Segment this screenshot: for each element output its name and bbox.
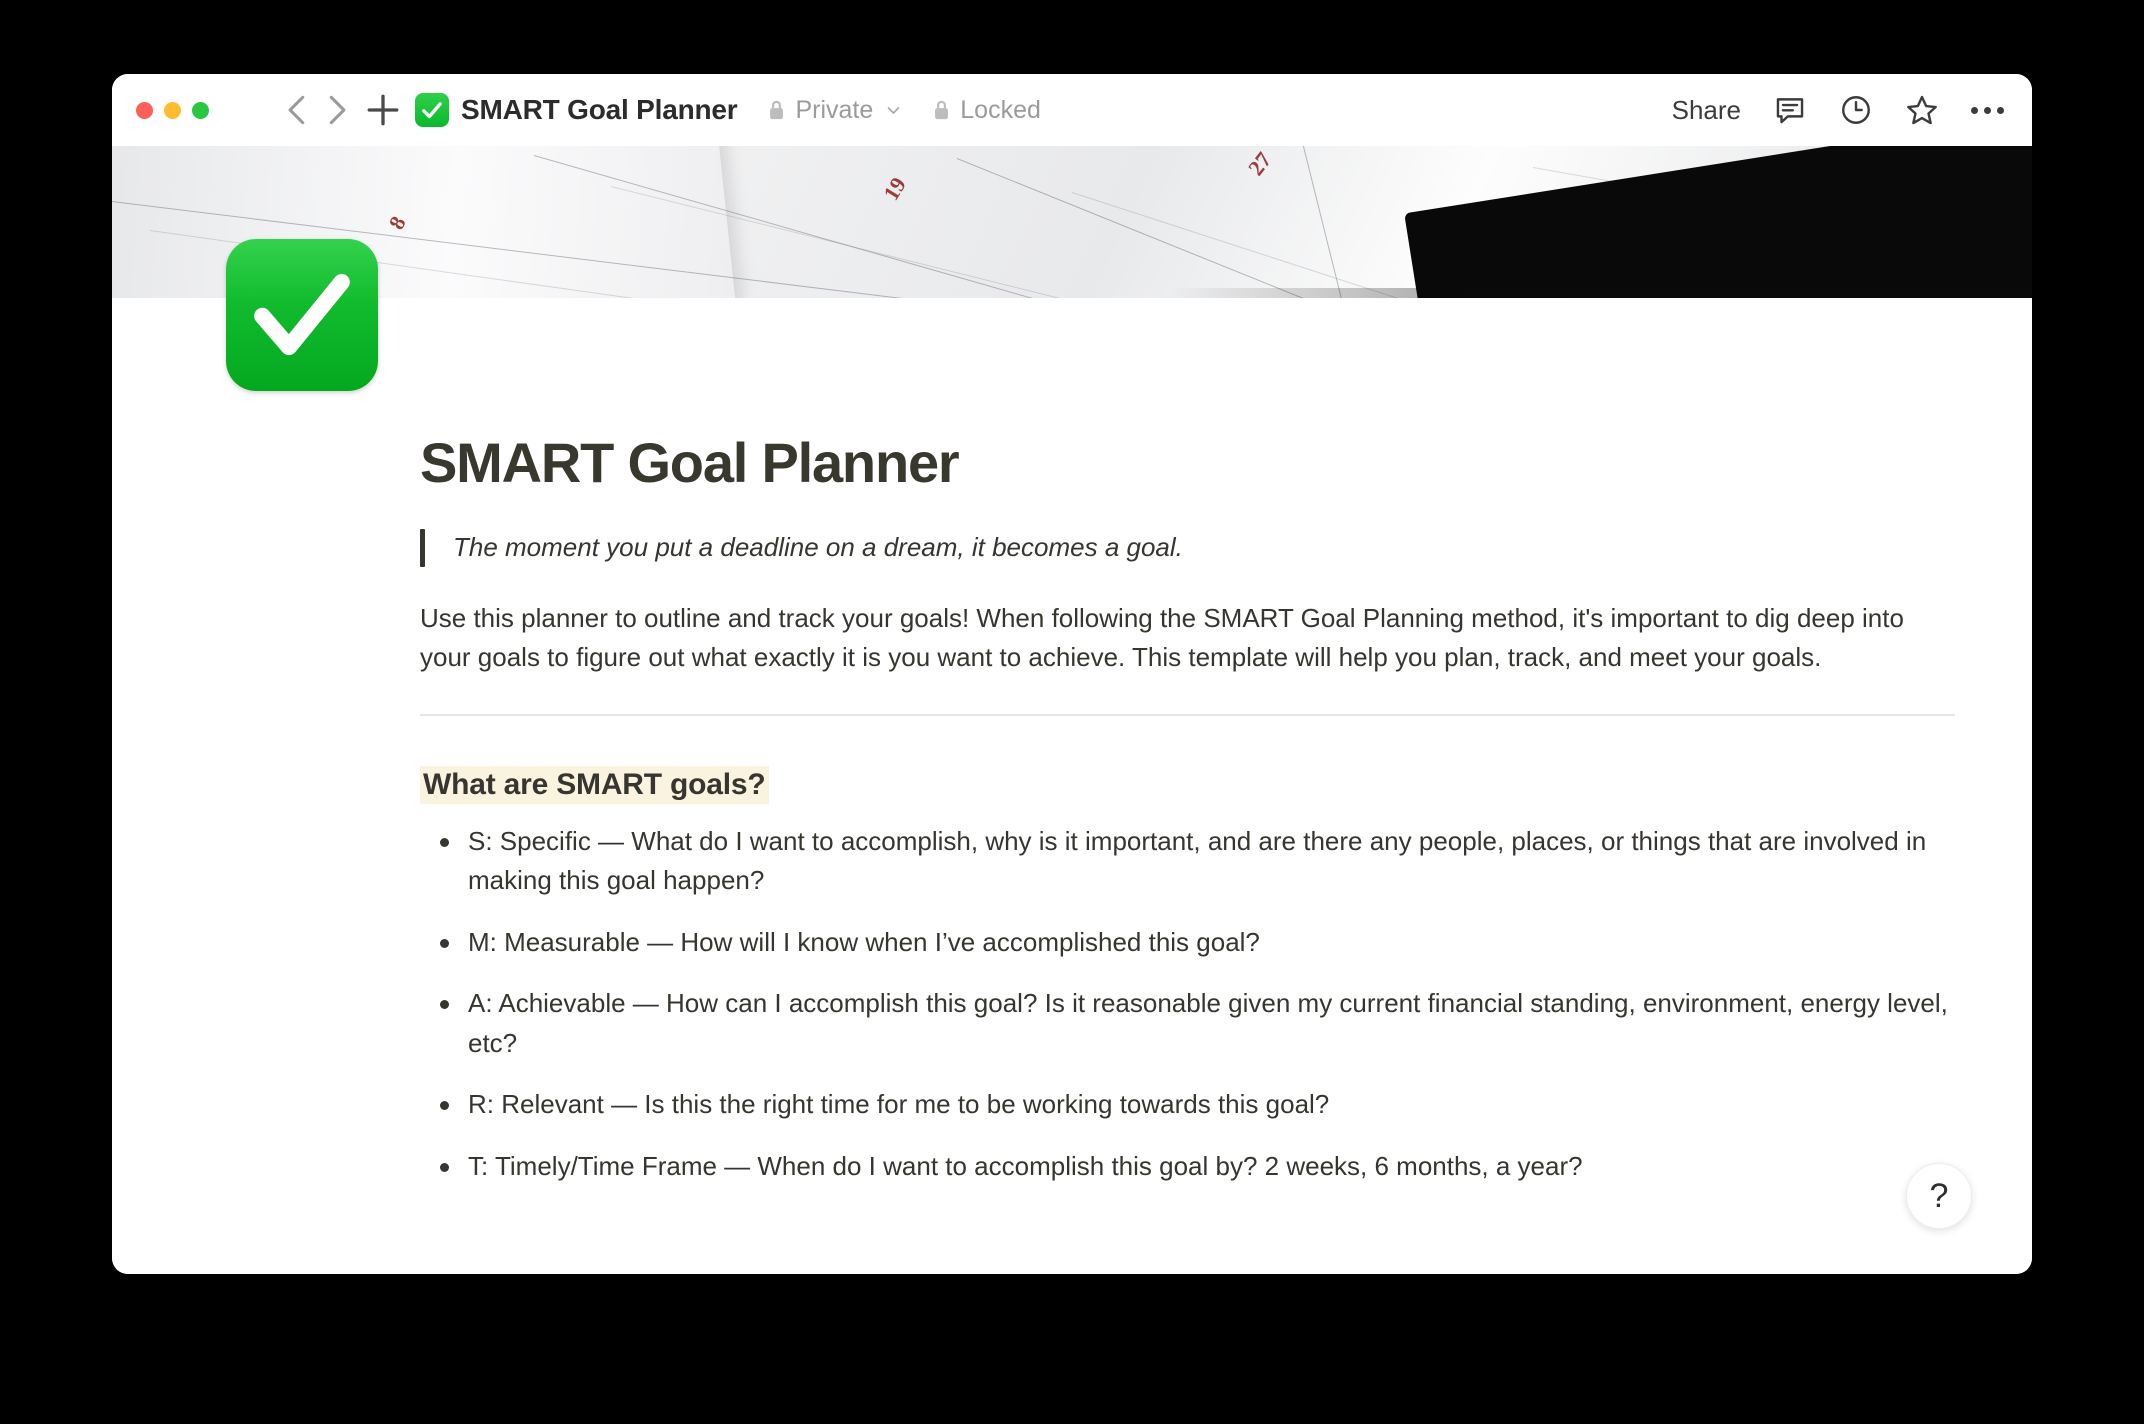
list-item[interactable]: M: Measurable — How will I know when I’v… <box>420 923 1950 963</box>
lock-icon <box>767 99 786 121</box>
new-page-icon[interactable] <box>361 88 405 132</box>
section-divider <box>420 714 1955 716</box>
document-body: SMART Goal Planner The moment you put a … <box>112 298 2032 1274</box>
chevron-down-icon <box>885 102 902 119</box>
app-window: SMART Goal Planner Private Locked Share <box>112 74 2032 1274</box>
page-icon[interactable] <box>226 239 378 391</box>
clock-icon[interactable] <box>1839 93 1873 127</box>
cover-left-page <box>112 146 736 298</box>
cover-image[interactable]: 8 19 27 <box>112 146 2032 298</box>
sidebar-toggle-icon[interactable] <box>231 96 265 124</box>
help-button[interactable]: ? <box>1906 1163 1972 1229</box>
privacy-selector[interactable]: Private <box>767 96 902 125</box>
list-item[interactable]: A: Achievable — How can I accomplish thi… <box>420 984 1950 1063</box>
back-arrow-icon[interactable] <box>279 91 317 129</box>
page-title[interactable]: SMART Goal Planner <box>420 430 1952 495</box>
titlebar-actions: Share <box>1672 93 2004 127</box>
window-controls <box>136 102 209 119</box>
list-item[interactable]: S: Specific — What do I want to accompli… <box>420 822 1950 901</box>
star-icon[interactable] <box>1905 93 1939 127</box>
cover-shadow-strip <box>112 288 2032 298</box>
section-heading[interactable]: What are SMART goals? <box>420 766 769 804</box>
list-item[interactable]: T: Timely/Time Frame — When do I want to… <box>420 1147 1950 1187</box>
more-options-icon[interactable] <box>1971 107 2004 114</box>
comment-icon[interactable] <box>1773 93 1807 127</box>
close-window-button[interactable] <box>136 102 153 119</box>
page-content: SMART Goal Planner The moment you put a … <box>112 298 2032 1186</box>
maximize-window-button[interactable] <box>192 102 209 119</box>
titlebar: SMART Goal Planner Private Locked Share <box>112 74 2032 146</box>
lock-icon <box>932 99 951 121</box>
page-emoji-icon[interactable] <box>415 93 449 127</box>
locked-status[interactable]: Locked <box>932 96 1041 125</box>
document-title[interactable]: SMART Goal Planner <box>461 94 737 126</box>
quote-text: The moment you put a deadline on a dream… <box>425 529 1183 567</box>
quote-callout[interactable]: The moment you put a deadline on a dream… <box>420 529 1952 567</box>
forward-arrow-icon[interactable] <box>317 91 355 129</box>
privacy-label: Private <box>795 96 873 125</box>
list-item[interactable]: R: Relevant — Is this the right time for… <box>420 1085 1950 1125</box>
smart-goal-list: S: Specific — What do I want to accompli… <box>420 822 1952 1187</box>
locked-label: Locked <box>960 96 1041 125</box>
intro-paragraph[interactable]: Use this planner to outline and track yo… <box>420 599 1950 678</box>
share-button[interactable]: Share <box>1672 95 1741 126</box>
minimize-window-button[interactable] <box>164 102 181 119</box>
